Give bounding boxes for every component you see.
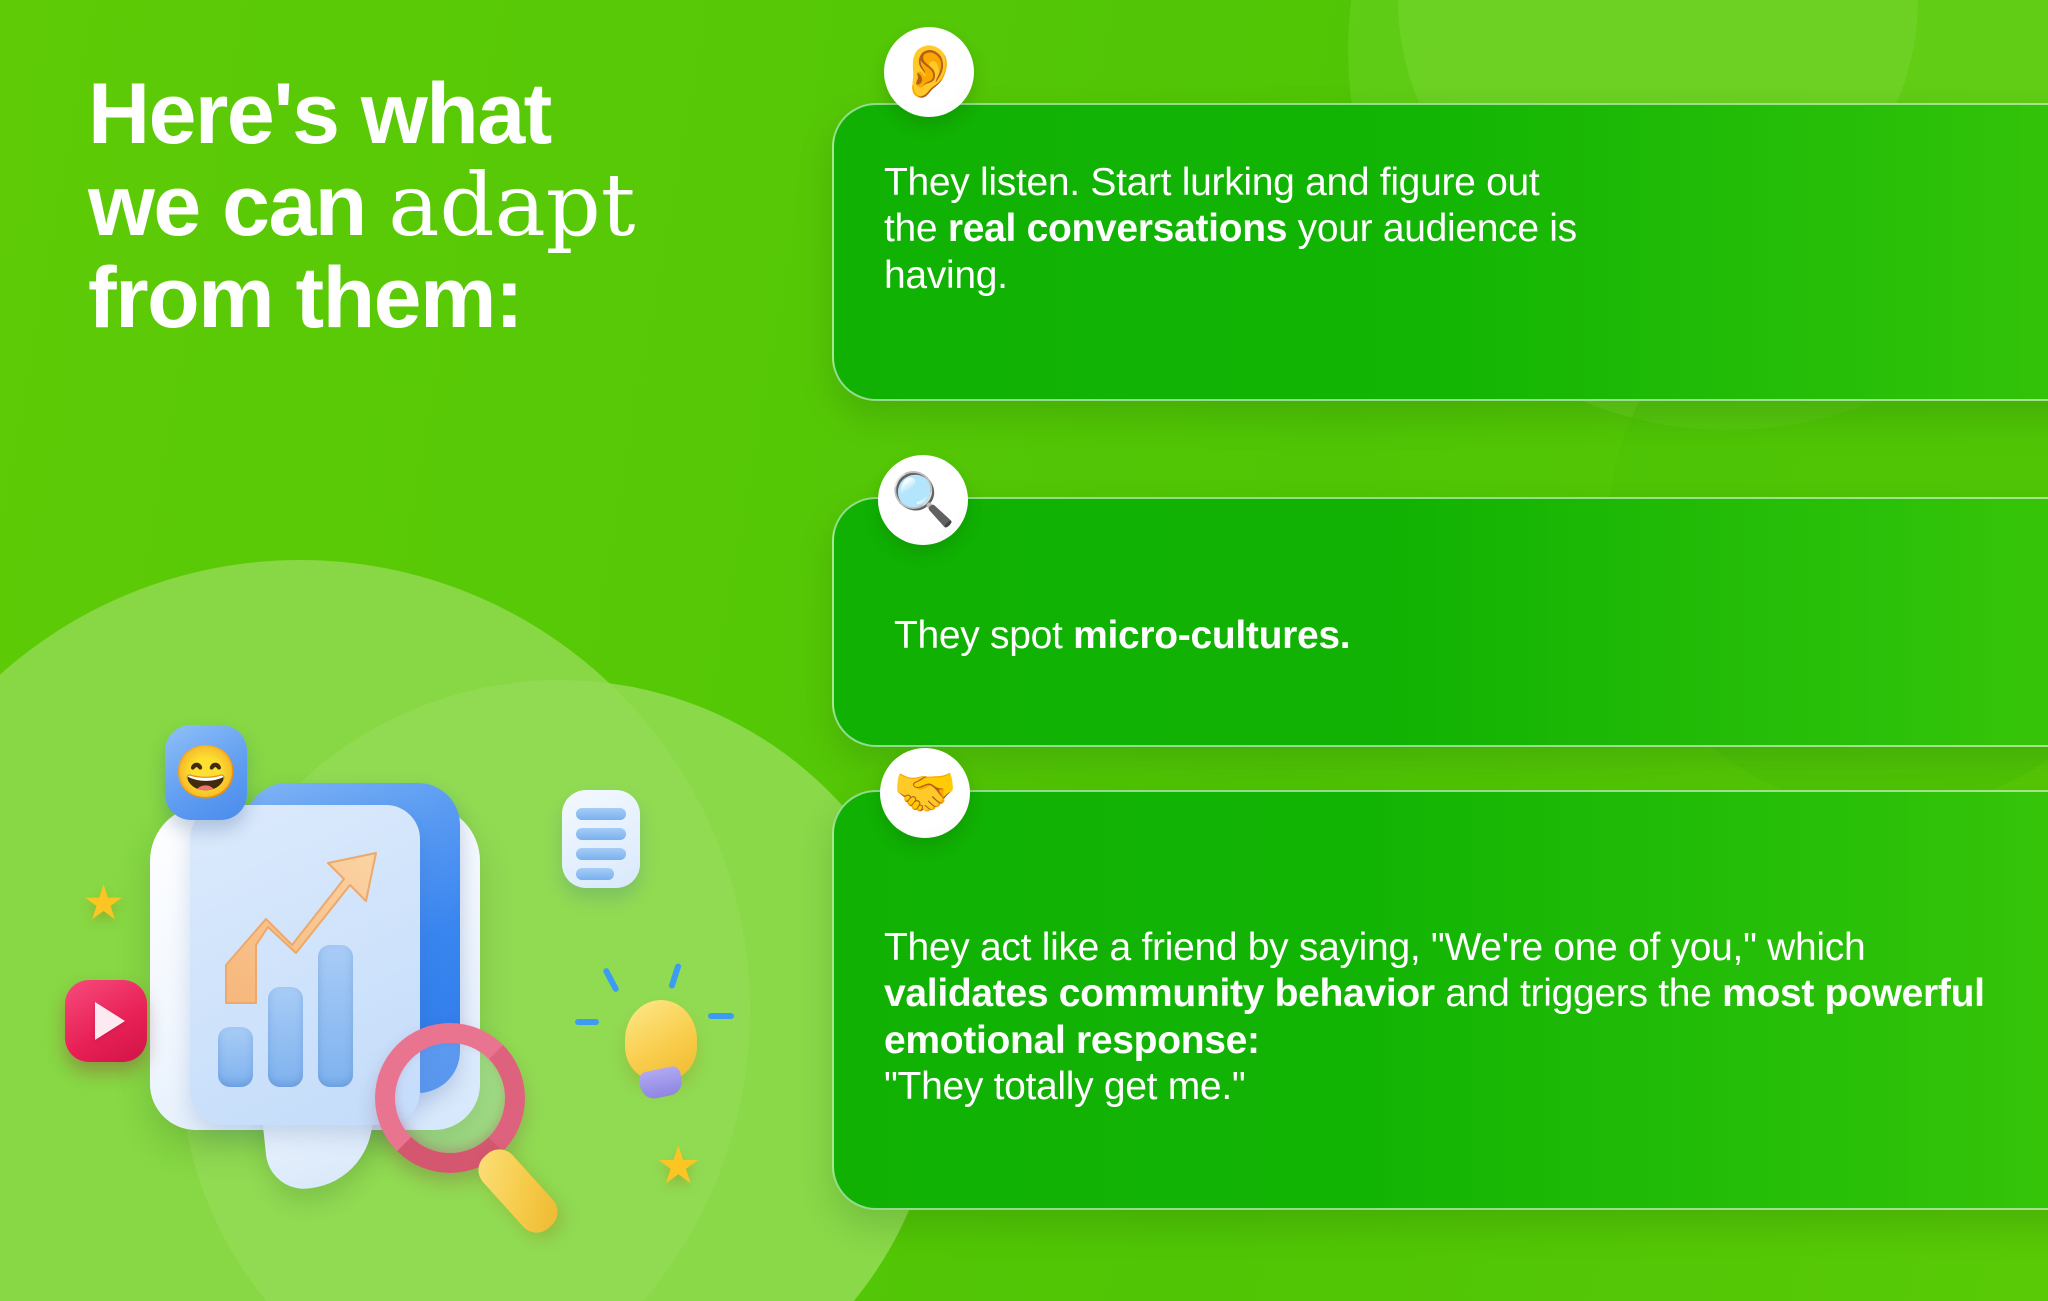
bar-chart-bar-3 <box>318 945 353 1087</box>
bar-chart-bar-2 <box>268 987 303 1087</box>
play-button-tile <box>65 980 147 1062</box>
trending-up-arrow-icon <box>204 827 404 1017</box>
star-icon: ★ <box>82 880 125 928</box>
left-column: Here's what we can adapt from them: <box>0 0 840 1301</box>
headline-line-2-plain: we can <box>88 158 388 254</box>
list-card-icon <box>562 790 640 888</box>
laughing-emoji-icon: 😄 <box>174 747 239 799</box>
headline-line-2: we can adapt <box>88 160 788 252</box>
insight-card-listen-text: They listen. Start lurking and figure ou… <box>884 160 1584 299</box>
lightbulb-ray-1 <box>602 967 620 993</box>
magnifying-glass-handle <box>471 1142 565 1240</box>
lightbulb-ray-3 <box>708 1013 734 1019</box>
headline-emphasis-adapt: adapt <box>388 156 635 256</box>
list-line-2 <box>576 828 626 840</box>
headline-line-1: Here's what <box>88 68 788 160</box>
headline-line-3: from them: <box>88 252 788 344</box>
star-icon: ★ <box>655 1140 702 1192</box>
lightbulb-ray-2 <box>668 963 682 990</box>
ear-icon: 👂 <box>884 27 974 117</box>
insight-cards-column: 👂 🔍 🤝 They listen. Start lurking and fig… <box>832 0 2048 1301</box>
lightbulb-ray-4 <box>575 1019 599 1025</box>
insight-card-act-like-friend-text: They act like a friend by saying, "We're… <box>884 925 2004 1111</box>
list-line-3 <box>576 848 626 860</box>
magnifying-glass-icon: 🔍 <box>878 455 968 545</box>
list-line-4 <box>576 868 614 880</box>
poster-canvas: Here's what we can adapt from them: <box>0 0 2048 1301</box>
play-triangle-icon <box>95 1002 125 1040</box>
bar-chart-bar-1 <box>218 1027 253 1087</box>
insight-card-micro-cultures-text: They spot micro-cultures. <box>894 613 1594 659</box>
3d-social-analytics-illustration: 😄 ★ ★ <box>60 745 780 1245</box>
list-line-1 <box>576 808 626 820</box>
handshake-icon: 🤝 <box>880 748 970 838</box>
page-title: Here's what we can adapt from them: <box>88 68 788 344</box>
laughing-emoji-tile: 😄 <box>165 725 247 820</box>
